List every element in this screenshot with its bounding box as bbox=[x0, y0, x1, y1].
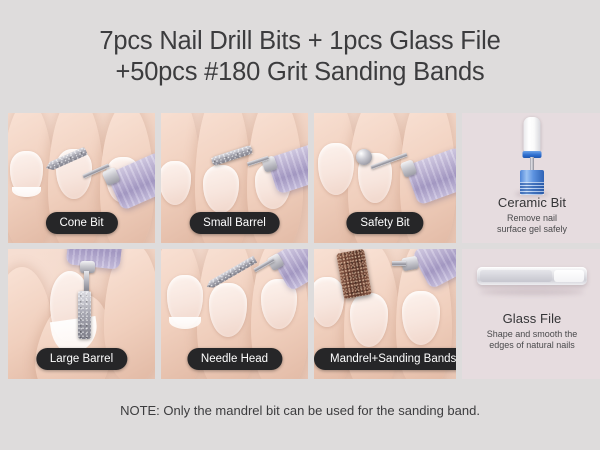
panel-desc-line-2: surface gel safely bbox=[497, 224, 567, 235]
panel-title-ceramic-bit: Ceramic Bit bbox=[498, 195, 566, 210]
label-pill-cone-bit: Cone Bit bbox=[45, 212, 117, 234]
glass-file-illustration bbox=[462, 249, 600, 311]
grit-texture bbox=[78, 291, 91, 339]
grid-cell-safety-bit: Safety Bit bbox=[314, 113, 456, 243]
glass-file-handle bbox=[554, 270, 584, 282]
label-pill-needle-head: Needle Head bbox=[187, 348, 282, 370]
page-title: 7pcs Nail Drill Bits + 1pcs Glass File +… bbox=[0, 26, 600, 88]
safety-bit-head bbox=[356, 149, 372, 165]
label-pill-mandrel-sanding-bands: Mandrel+Sanding Bands bbox=[314, 348, 456, 370]
footer-note: NOTE: Only the mandrel bit can be used f… bbox=[0, 403, 600, 419]
bits-grid: Cone Bit Small Barrel bbox=[8, 113, 592, 381]
panel-desc-ceramic-bit: Remove nail surface gel safely bbox=[497, 213, 567, 235]
title-line-1: 7pcs Nail Drill Bits + 1pcs Glass File bbox=[0, 26, 600, 57]
ceramic-bit-illustration bbox=[462, 113, 600, 195]
ceramic-barrel bbox=[524, 117, 541, 152]
panel-desc-glass-file: Shape and smooth the edges of natural na… bbox=[487, 329, 578, 351]
product-infographic: 7pcs Nail Drill Bits + 1pcs Glass File +… bbox=[0, 0, 600, 450]
title-line-2: +50pcs #180 Grit Sanding Bands bbox=[0, 57, 600, 88]
glass-file-grit-surface bbox=[480, 270, 552, 282]
ceramic-base bbox=[520, 170, 544, 195]
label-pill-safety-bit: Safety Bit bbox=[346, 212, 423, 234]
drop-shadow bbox=[480, 289, 584, 295]
grid-cell-mandrel-sanding-bands: Mandrel+Sanding Bands bbox=[314, 249, 456, 379]
panel-desc-line-1: Remove nail bbox=[497, 213, 567, 224]
info-panel-glass-file: Glass File Shape and smooth the edges of… bbox=[462, 249, 600, 379]
grid-cell-needle-head: Needle Head bbox=[161, 249, 308, 379]
panel-desc-line-2: edges of natural nails bbox=[487, 340, 578, 351]
grid-cell-large-barrel: Large Barrel bbox=[8, 249, 155, 379]
panel-title-glass-file: Glass File bbox=[503, 311, 562, 326]
label-pill-large-barrel: Large Barrel bbox=[36, 348, 127, 370]
panel-desc-line-1: Shape and smooth the bbox=[487, 329, 578, 340]
large-barrel-head bbox=[78, 291, 91, 339]
grid-cell-cone-bit: Cone Bit bbox=[8, 113, 155, 243]
mandrel-shank bbox=[392, 261, 406, 266]
grid-cell-small-barrel: Small Barrel bbox=[161, 113, 308, 243]
label-pill-small-barrel: Small Barrel bbox=[189, 212, 280, 234]
info-panel-ceramic-bit: Ceramic Bit Remove nail surface gel safe… bbox=[462, 113, 600, 243]
glass-file-bar bbox=[477, 267, 587, 285]
